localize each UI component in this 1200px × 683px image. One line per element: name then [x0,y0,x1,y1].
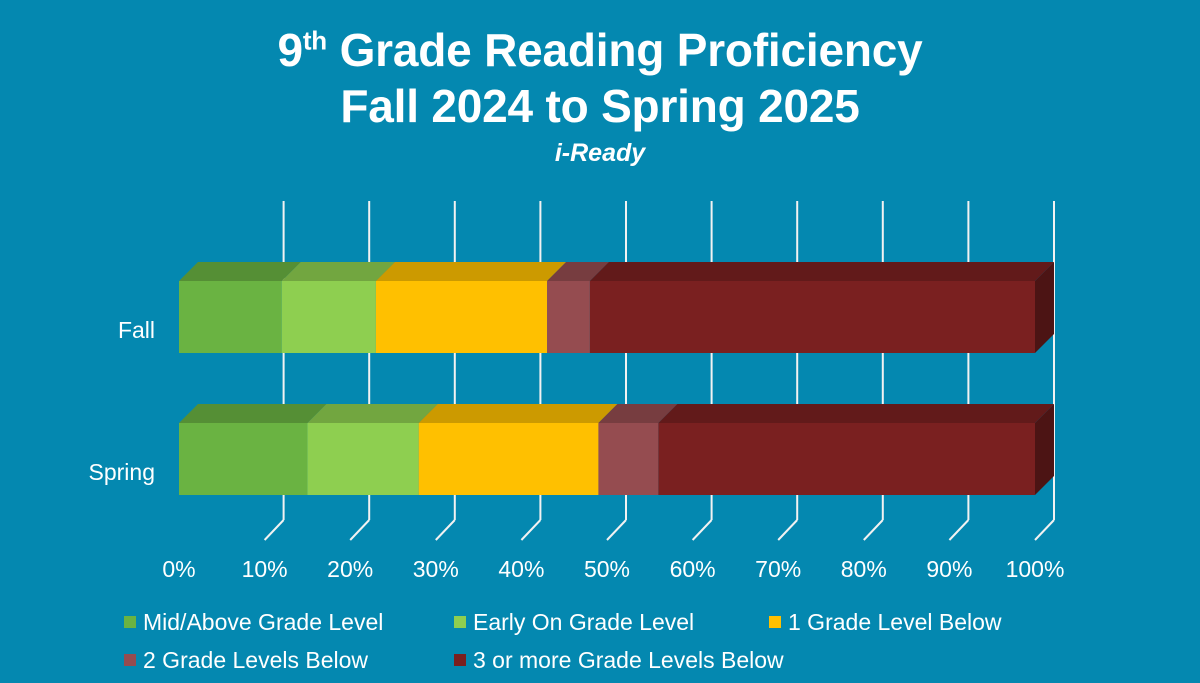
bar-group-spring [179,404,1054,495]
legend-row-1: Mid/Above Grade Level Early On Grade Lev… [124,603,1124,641]
bar-segment-fall-2 [376,262,566,353]
x-axis-tick-40: 40% [481,556,561,583]
legend-label-mid-above-grade-level: Mid/Above Grade Level [143,611,383,634]
bar-segment-fall-4 [590,262,1054,353]
legend-swatch-early-on-grade-level [454,616,466,628]
x-axis-tick-70: 70% [738,556,818,583]
bar-segment-spring-2 [419,404,618,495]
bar-front-face-spring-0 [179,423,307,495]
axis-tick-connector-50 [607,520,626,540]
legend-item-3-or-more-grade-levels-below[interactable]: 3 or more Grade Levels Below [454,649,769,672]
bar-top-face-spring-0 [179,404,326,423]
legend-swatch-1-grade-level-below [769,616,781,628]
bar-segment-spring-0 [179,404,326,495]
bar-front-face-spring-2 [419,423,599,495]
category-label-spring: Spring [25,459,155,486]
legend-label-2-grade-levels-below: 2 Grade Levels Below [143,649,368,672]
x-axis-tick-30: 30% [396,556,476,583]
legend-row-2: 2 Grade Levels Below 3 or more Grade Lev… [124,641,1124,679]
bar-front-face-fall-3 [547,281,590,353]
legend-swatch-mid-above-grade-level [124,616,136,628]
axis-tick-connector-10 [265,520,284,540]
bar-top-face-spring-1 [307,404,437,423]
x-axis-tick-80: 80% [824,556,904,583]
bar-front-face-fall-1 [282,281,376,353]
legend-label-early-on-grade-level: Early On Grade Level [473,611,694,634]
axis-tick-connector-80 [864,520,883,540]
bar-top-face-spring-4 [658,404,1054,423]
bar-front-face-spring-1 [307,423,418,495]
bar-segment-spring-4 [658,404,1054,495]
legend-label-3-or-more-grade-levels-below: 3 or more Grade Levels Below [473,649,784,672]
chart-legend: Mid/Above Grade Level Early On Grade Lev… [124,603,1124,679]
bar-front-face-fall-2 [376,281,547,353]
legend-item-2-grade-levels-below[interactable]: 2 Grade Levels Below [124,649,454,672]
legend-item-1-grade-level-below[interactable]: 1 Grade Level Below [769,611,1069,634]
x-axis-tick-100: 100% [995,556,1075,583]
bar-top-face-spring-2 [419,404,618,423]
bar-top-face-fall-4 [590,262,1054,281]
bar-front-face-spring-3 [598,423,658,495]
bar-top-face-fall-0 [179,262,301,281]
axis-tick-connector-40 [521,520,540,540]
axis-tick-connector-20 [350,520,369,540]
bar-front-face-fall-0 [179,281,282,353]
bar-top-face-fall-2 [376,262,566,281]
axis-tick-connector-30 [436,520,455,540]
legend-label-1-grade-level-below: 1 Grade Level Below [788,611,1002,634]
x-axis-tick-90: 90% [909,556,989,583]
legend-swatch-2-grade-levels-below [124,654,136,666]
axis-tick-connector-100 [1035,520,1054,540]
legend-swatch-3-or-more-grade-levels-below [454,654,466,666]
bar-front-face-spring-4 [658,423,1035,495]
x-axis-tick-20: 20% [310,556,390,583]
x-axis-tick-50: 50% [567,556,647,583]
bar-segment-spring-1 [307,404,437,495]
legend-item-mid-above-grade-level[interactable]: Mid/Above Grade Level [124,611,454,634]
legend-item-early-on-grade-level[interactable]: Early On Grade Level [454,611,769,634]
axis-tick-connector-90 [949,520,968,540]
category-label-fall: Fall [25,317,155,344]
axis-tick-connector-60 [693,520,712,540]
x-axis-tick-10: 10% [225,556,305,583]
bar-top-face-fall-1 [282,262,395,281]
x-axis-tick-0: 0% [139,556,219,583]
chart-canvas: 9th Grade Reading Proficiency Fall 2024 … [0,0,1200,683]
bar-group-fall [179,262,1054,353]
x-axis-tick-60: 60% [653,556,733,583]
bar-front-face-fall-4 [590,281,1035,353]
axis-tick-connector-70 [778,520,797,540]
